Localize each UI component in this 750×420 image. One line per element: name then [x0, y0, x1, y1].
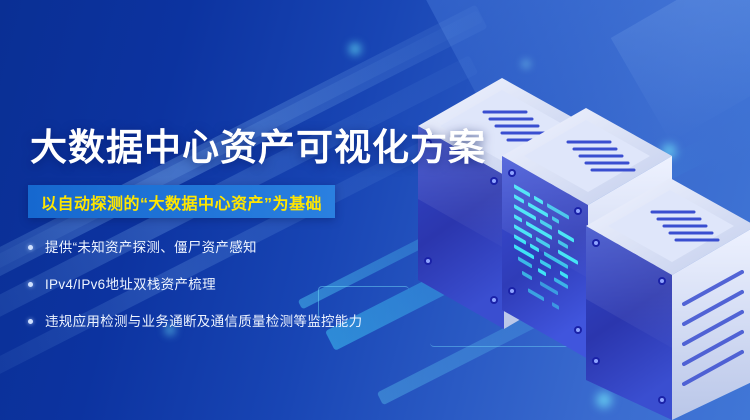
bullet-dot-icon [28, 319, 33, 324]
feature-list: 提供“未知资产探测、僵尸资产感知 IPv4/IPv6地址双栈资产梳理 违规应用检… [28, 238, 428, 349]
banner-root: 大数据中心资产可视化方案 以自动探测的“大数据中心资产”为基础 提供“未知资产探… [0, 0, 750, 420]
list-item: 违规应用检测与业务通断及通信质量检测等监控能力 [28, 312, 428, 331]
page-title: 大数据中心资产可视化方案 [30, 126, 486, 170]
list-item-label: IPv4/IPv6地址双栈资产梳理 [45, 275, 216, 294]
bullet-dot-icon [28, 282, 33, 287]
subtitle-text: 以自动探测的“大数据中心资产”为基础 [41, 190, 322, 214]
list-item: 提供“未知资产探测、僵尸资产感知 [28, 238, 428, 257]
list-item-label: 违规应用检测与业务通断及通信质量检测等监控能力 [45, 312, 362, 331]
server-rack-illustration [418, 48, 750, 420]
copy-block: 大数据中心资产可视化方案 以自动探测的“大数据中心资产”为基础 提供“未知资产探… [0, 0, 450, 420]
subtitle-highlight-bar: 以自动探测的“大数据中心资产”为基础 [28, 185, 335, 218]
server-cabinet-3 [586, 178, 750, 420]
bullet-dot-icon [28, 245, 33, 250]
list-item: IPv4/IPv6地址双栈资产梳理 [28, 275, 428, 294]
list-item-label: 提供“未知资产探测、僵尸资产感知 [45, 238, 257, 257]
